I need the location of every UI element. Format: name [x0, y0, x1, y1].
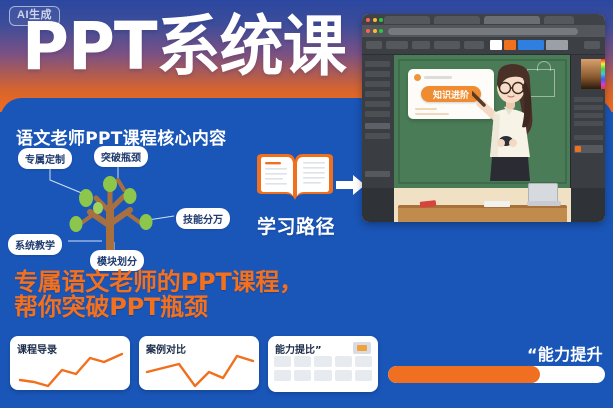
toolbar-item[interactable]	[366, 41, 382, 49]
teacher-illustration	[472, 61, 546, 188]
progress-bar-fill	[388, 366, 540, 383]
headline-line-2: 帮你突破PPT瓶颈	[14, 295, 364, 320]
layer-item[interactable]	[365, 61, 390, 67]
grid-cell	[314, 370, 331, 381]
grid-row	[274, 356, 372, 367]
grid-cell	[294, 356, 311, 367]
browser-tab[interactable]	[544, 16, 574, 24]
grid-placeholder-icon	[353, 342, 371, 354]
slide-header-bar	[424, 76, 452, 79]
swatch-blue[interactable]	[518, 40, 544, 50]
toolbar-item[interactable]	[464, 41, 484, 49]
browser-window-mockup[interactable]: 知识进阶	[362, 14, 605, 222]
slide-text-line	[415, 113, 449, 115]
maximize-icon[interactable]	[379, 18, 383, 22]
headline-line-1: 专属语文老师的PPT课程，	[14, 270, 364, 295]
tree-tag-breakthrough: 突破瓶颈	[94, 146, 148, 167]
progress-label: “能力提升	[527, 341, 603, 365]
layer-item[interactable]	[365, 111, 390, 117]
editor-right-panel[interactable]	[570, 55, 605, 188]
layer-toolbar[interactable]	[365, 171, 390, 177]
minimize-icon[interactable]	[373, 18, 377, 22]
window-traffic-lights[interactable]	[366, 18, 383, 22]
laptop-base	[527, 201, 561, 206]
panel-row[interactable]	[574, 121, 603, 126]
course-structure-tree: 专属定制 突破瓶颈 技能分万 系统教学 模块划分	[6, 146, 251, 261]
browser-address-bar[interactable]	[362, 25, 605, 37]
grid-cell	[314, 356, 331, 367]
toolbar-item[interactable]	[386, 41, 408, 49]
panel-row[interactable]	[574, 135, 603, 140]
grid-cell	[294, 370, 311, 381]
panel-row[interactable]	[574, 105, 603, 110]
editor-body: 知识进阶	[362, 55, 605, 222]
grid-cell	[335, 370, 352, 381]
card-label: 能力提比”	[275, 341, 322, 356]
editor-toolbar[interactable]	[362, 37, 605, 55]
grid-cell	[355, 356, 372, 367]
swatch-white[interactable]	[490, 40, 502, 50]
swatch-gray[interactable]	[546, 40, 568, 50]
tree-tag-skills: 技能分万	[176, 208, 230, 229]
toolbar-item[interactable]	[412, 41, 430, 49]
grid-cell	[274, 370, 291, 381]
panel-row[interactable]	[574, 113, 603, 118]
line-chart-icon	[12, 348, 128, 388]
layer-item-selected[interactable]	[365, 123, 390, 129]
desk	[398, 205, 567, 222]
browser-tab-bar[interactable]	[362, 14, 605, 25]
browser-tab[interactable]	[434, 16, 480, 24]
open-book-icon	[253, 148, 337, 208]
grid-cell	[274, 356, 291, 367]
nav-buttons[interactable]	[366, 29, 383, 33]
forward-icon[interactable]	[373, 29, 377, 33]
classroom-illustration: 知识进阶	[394, 55, 571, 188]
learning-path-label: 学习路径	[240, 212, 352, 239]
poster-canvas: AI生成 PPT系统课 语文老师PPT课程核心内容	[0, 0, 613, 408]
slide-text-line	[415, 108, 437, 110]
back-icon[interactable]	[366, 29, 370, 33]
promo-headline: 专属语文老师的PPT课程， 帮你突破PPT瓶颈	[14, 270, 364, 320]
editor-left-panel[interactable]	[362, 55, 395, 188]
line-chart-icon	[141, 348, 257, 388]
card-ability-comparison[interactable]: 能力提比”	[268, 336, 378, 392]
browser-tab-active[interactable]	[484, 16, 540, 24]
white-notepad	[484, 201, 510, 207]
swatch-orange[interactable]	[504, 40, 516, 50]
layer-item[interactable]	[365, 91, 390, 97]
layer-item[interactable]	[365, 133, 390, 139]
color-picker-field[interactable]	[581, 59, 603, 89]
toolbar-item[interactable]	[584, 41, 600, 49]
layer-item[interactable]	[365, 81, 390, 87]
grid-cell	[335, 356, 352, 367]
slide-logo-icon	[414, 74, 421, 81]
page-title: PPT系统课	[22, 8, 346, 86]
grid-cell	[355, 370, 372, 381]
close-icon[interactable]	[366, 18, 370, 22]
card-case-comparison[interactable]: 案例对比	[139, 336, 259, 390]
tree-tag-custom: 专属定制	[18, 148, 72, 169]
layer-item[interactable]	[365, 71, 390, 77]
card-course-catalog[interactable]: 课程导录	[10, 336, 130, 390]
panel-row[interactable]	[574, 97, 603, 102]
panel-swatch-orange[interactable]	[575, 146, 581, 152]
reload-icon[interactable]	[379, 29, 383, 33]
url-input[interactable]	[388, 28, 578, 35]
layer-item[interactable]	[365, 101, 390, 107]
tree-tag-systematic: 系统教学	[8, 234, 62, 255]
browser-tab[interactable]	[384, 16, 430, 24]
hue-slider[interactable]	[601, 59, 605, 89]
progress-bar[interactable]	[388, 366, 605, 383]
learning-path-block: 学习路径	[240, 146, 352, 251]
toolbar-item[interactable]	[434, 41, 460, 49]
grid-row	[274, 370, 372, 381]
placeholder-grid	[274, 356, 372, 384]
